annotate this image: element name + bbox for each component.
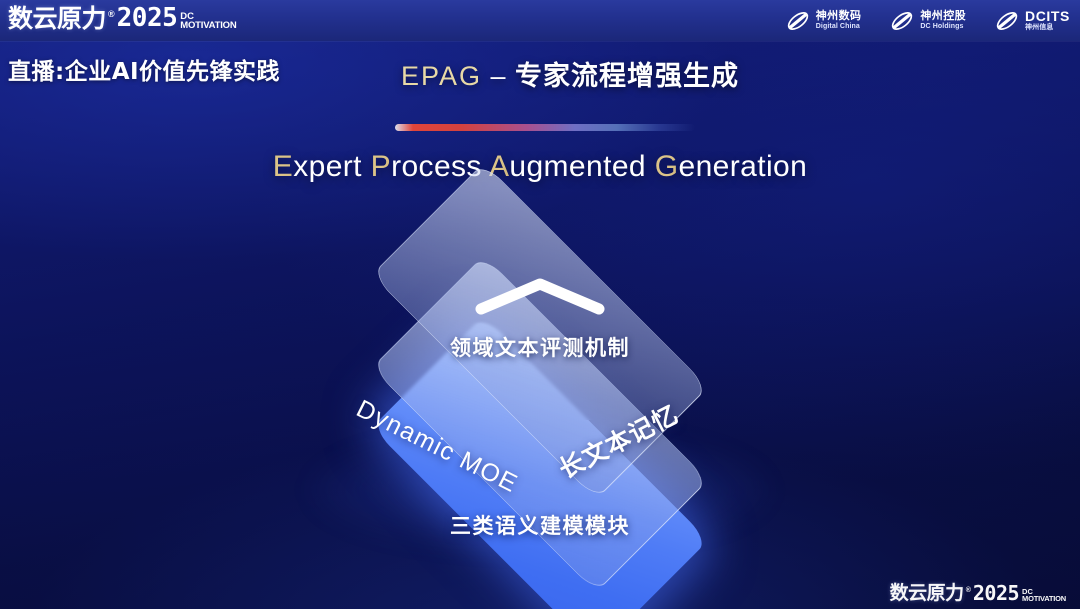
stack-layer-middle-right-label: 长文本记忆 [552,395,684,486]
watermark-motivation-text: MOTIVATION [1022,595,1066,602]
stack-layer-middle-left-label: Dynamic MOE [352,395,523,500]
brand-tagline: DC MOTIVATION [180,12,236,31]
subtitle-rest-process: rocess [391,150,482,183]
stack-layer-middle [371,255,708,592]
partner-name-en: Digital China [816,23,862,30]
brand-year: 2025 [117,5,178,31]
partner-logo-dc-holdings: 神州控股 DC Holdings [889,8,966,34]
subtitle-rest-generation: eneration [679,150,808,183]
swoosh-icon [785,8,811,34]
partner-name-cn: DCITS [1025,9,1070,24]
title-dash: – [482,61,515,91]
partner-logo-group: 神州数码 Digital China 神州控股 DC Holdings [785,4,1070,37]
subtitle-rest-augmented: ugmented [509,150,646,183]
subtitle-cap-a: A [489,150,509,183]
watermark-tagline: DC MOTIVATION [1022,588,1066,603]
slide-canvas: 数云原力 ® 2025 DC MOTIVATION 神州数码 Digital C… [0,0,1080,609]
subtitle-cap-p: P [371,150,391,183]
subtitle-cap-e: E [273,150,293,183]
subtitle-cap-g: G [655,150,679,183]
subtitle-rest-expert: xpert [293,150,362,183]
brand-motivation-text: MOTIVATION [180,21,236,30]
title-chinese: 专家流程增强生成 [515,61,739,92]
watermark-logo: 数云原力 ® 2025 DC MOTIVATION [890,583,1066,603]
partner-name-cn: 神州控股 [920,11,966,23]
partner-name-en: DC Holdings [920,23,966,30]
swoosh-icon [889,8,915,34]
partner-name-en: 神州信息 [1025,24,1070,31]
brand-name-cn: 数云原力 [8,6,106,31]
brand-logo: 数云原力 ® 2025 DC MOTIVATION [8,5,237,31]
partner-label: DCITS 神州信息 [1025,9,1070,31]
partner-logo-dcits: DCITS 神州信息 [994,8,1070,34]
chevron-up-icon [474,276,606,316]
stack-layer-top-label: 领域文本评测机制 [0,332,1080,362]
stack-glow [310,430,770,550]
header-bar: 数云原力 ® 2025 DC MOTIVATION 神州数码 Digital C… [0,0,1080,41]
stack-layer-bottom [371,315,708,609]
brand-registered-mark: ® [108,10,115,19]
partner-name-cn: 神州数码 [816,11,862,23]
gradient-divider [395,124,695,131]
watermark-name-cn: 数云原力 [890,584,964,603]
stack-layer-top [371,162,708,499]
partner-logo-digital-china: 神州数码 Digital China [785,8,862,34]
watermark-year: 2025 [973,583,1019,603]
partner-label: 神州控股 DC Holdings [920,11,966,30]
english-subtitle: Expert Process Augmented Generation [0,150,1080,184]
title-acronym: EPAG [401,61,482,91]
watermark-registered-mark: ® [966,587,971,594]
page-title: EPAG – 专家流程增强生成 [0,54,1080,93]
swoosh-icon [994,8,1020,34]
stack-layer-bottom-label: 三类语义建模模块 [0,510,1080,540]
partner-label: 神州数码 Digital China [816,11,862,30]
